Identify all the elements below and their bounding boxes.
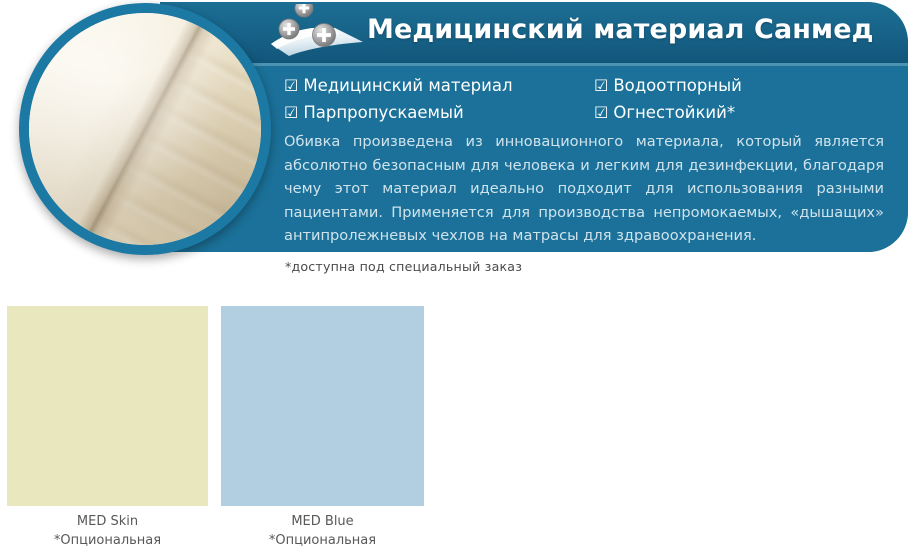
feature-item: ☑Парпропускаемый <box>284 103 464 122</box>
checkbox-checked-icon: ☑ <box>594 103 608 122</box>
fabric-photo <box>19 3 271 255</box>
swatch-med-skin[interactable] <box>7 306 208 506</box>
swatch-name: MED Blue <box>291 514 353 529</box>
feature-item: ☑Огнестойкий* <box>594 103 735 122</box>
feature-item: ☑Медицинский материал <box>284 76 513 95</box>
swatch-caption-med-skin: MED Skin *Опциональная <box>7 512 208 550</box>
photo-image <box>29 13 261 245</box>
panel-description: Обивка произведена из инновационного мат… <box>284 130 884 248</box>
checkbox-checked-icon: ☑ <box>594 76 608 95</box>
swatch-note: *Опциональная <box>7 531 208 550</box>
panel-title: Медицинский материал Санмед <box>367 14 874 45</box>
feature-label: Медицинский материал <box>303 76 512 95</box>
swatch-note: *Опциональная <box>221 531 424 550</box>
feature-label: Парпропускаемый <box>303 103 463 122</box>
swatch-med-blue[interactable] <box>221 306 424 506</box>
swatch-name: MED Skin <box>77 514 138 529</box>
fabric-shading <box>29 13 261 245</box>
medical-sheet-plus-logo-icon <box>265 4 369 60</box>
checkbox-checked-icon: ☑ <box>284 103 298 122</box>
info-panel: Медицинский материал Санмед ☑Медицинский… <box>160 2 908 252</box>
feature-label: Водоотпорный <box>613 76 742 95</box>
feature-item: ☑Водоотпорный <box>594 76 742 95</box>
checkbox-checked-icon: ☑ <box>284 76 298 95</box>
feature-label: Огнестойкий* <box>613 103 735 122</box>
swatch-caption-med-blue: MED Blue *Опциональная <box>221 512 424 550</box>
footnote-text: *доступна под специальный заказ <box>285 259 522 274</box>
